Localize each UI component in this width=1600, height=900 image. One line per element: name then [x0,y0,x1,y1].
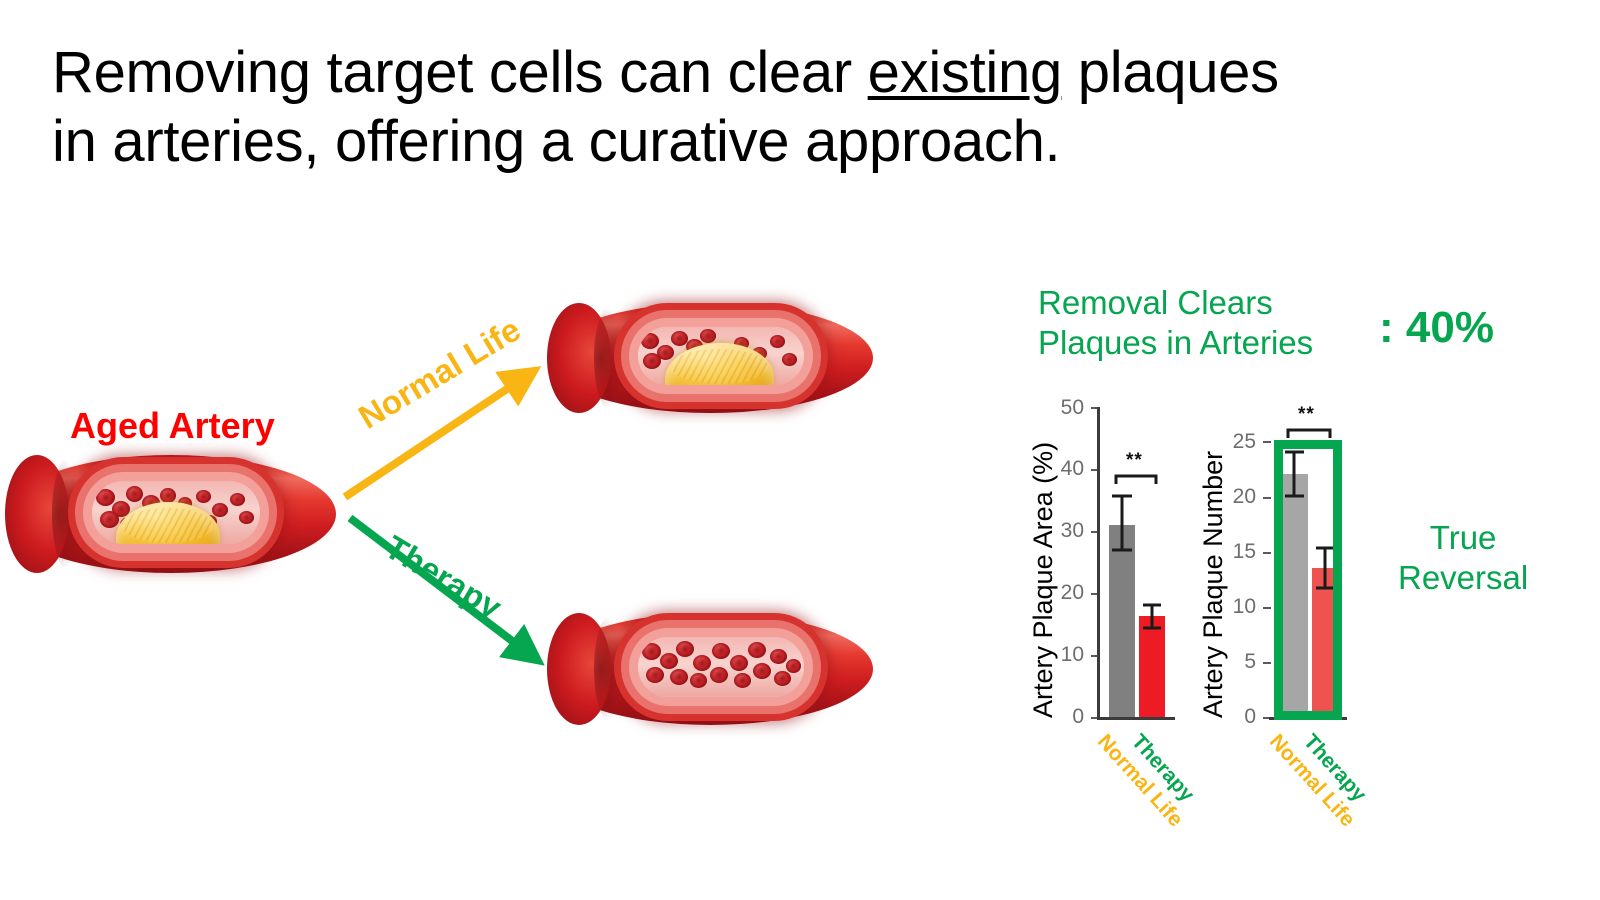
normal-life-arrow [0,0,1600,900]
red-blood-cell [160,488,176,503]
artery-cap-shadow [52,457,86,570]
red-blood-cell [196,490,211,503]
red-blood-cell [770,649,787,664]
red-blood-cell [676,641,694,657]
removal-clears-heading: Removal Clears Plaques in Arteries [1038,283,1313,364]
chart1-significance-marker: ** [1126,450,1143,472]
artery-cutaway-window [638,327,804,385]
red-blood-cell [710,667,728,683]
red-blood-cell [239,511,254,524]
red-blood-cell [730,655,748,671]
red-blood-cell [646,667,664,683]
artery-cutaway-window [92,481,260,544]
red-blood-cell [786,659,801,673]
cleared-artery-illustration [548,613,873,725]
removal-percent-value: : 40% [1379,303,1494,353]
red-blood-cell [693,655,711,671]
red-blood-cell [96,489,115,506]
red-blood-cell [642,643,661,660]
red-blood-cell [734,673,751,688]
artery-cap-shadow [594,305,628,411]
chart2-significance-marker: ** [1298,404,1315,426]
red-blood-cell [712,643,730,659]
artery-cap-shadow [594,615,628,723]
red-blood-cell [770,335,785,348]
red-blood-cell [126,486,143,502]
chart1-significance-bracket [1006,392,1176,722]
red-blood-cell [774,671,791,686]
red-blood-cell [782,353,797,366]
red-blood-cell [660,653,678,669]
red-blood-cell [700,329,716,343]
red-blood-cell [100,511,119,528]
red-blood-cell [230,493,245,506]
true-reversal-highlight-box [1274,440,1342,720]
red-blood-cell [641,333,659,349]
plaqued-artery-illustration [548,303,873,413]
chart-artery-plaque-area: Artery Plaque Area (%) 50 40 30 20 10 0 … [1006,392,1176,722]
artery-cutaway-window [638,637,804,697]
red-blood-cell [753,663,771,679]
red-blood-cell [212,503,228,517]
red-blood-cell [748,642,766,658]
red-blood-cell [690,673,707,688]
red-blood-cell [643,353,661,369]
red-blood-cell [670,669,688,685]
true-reversal-callout: True Reversal [1398,518,1528,599]
